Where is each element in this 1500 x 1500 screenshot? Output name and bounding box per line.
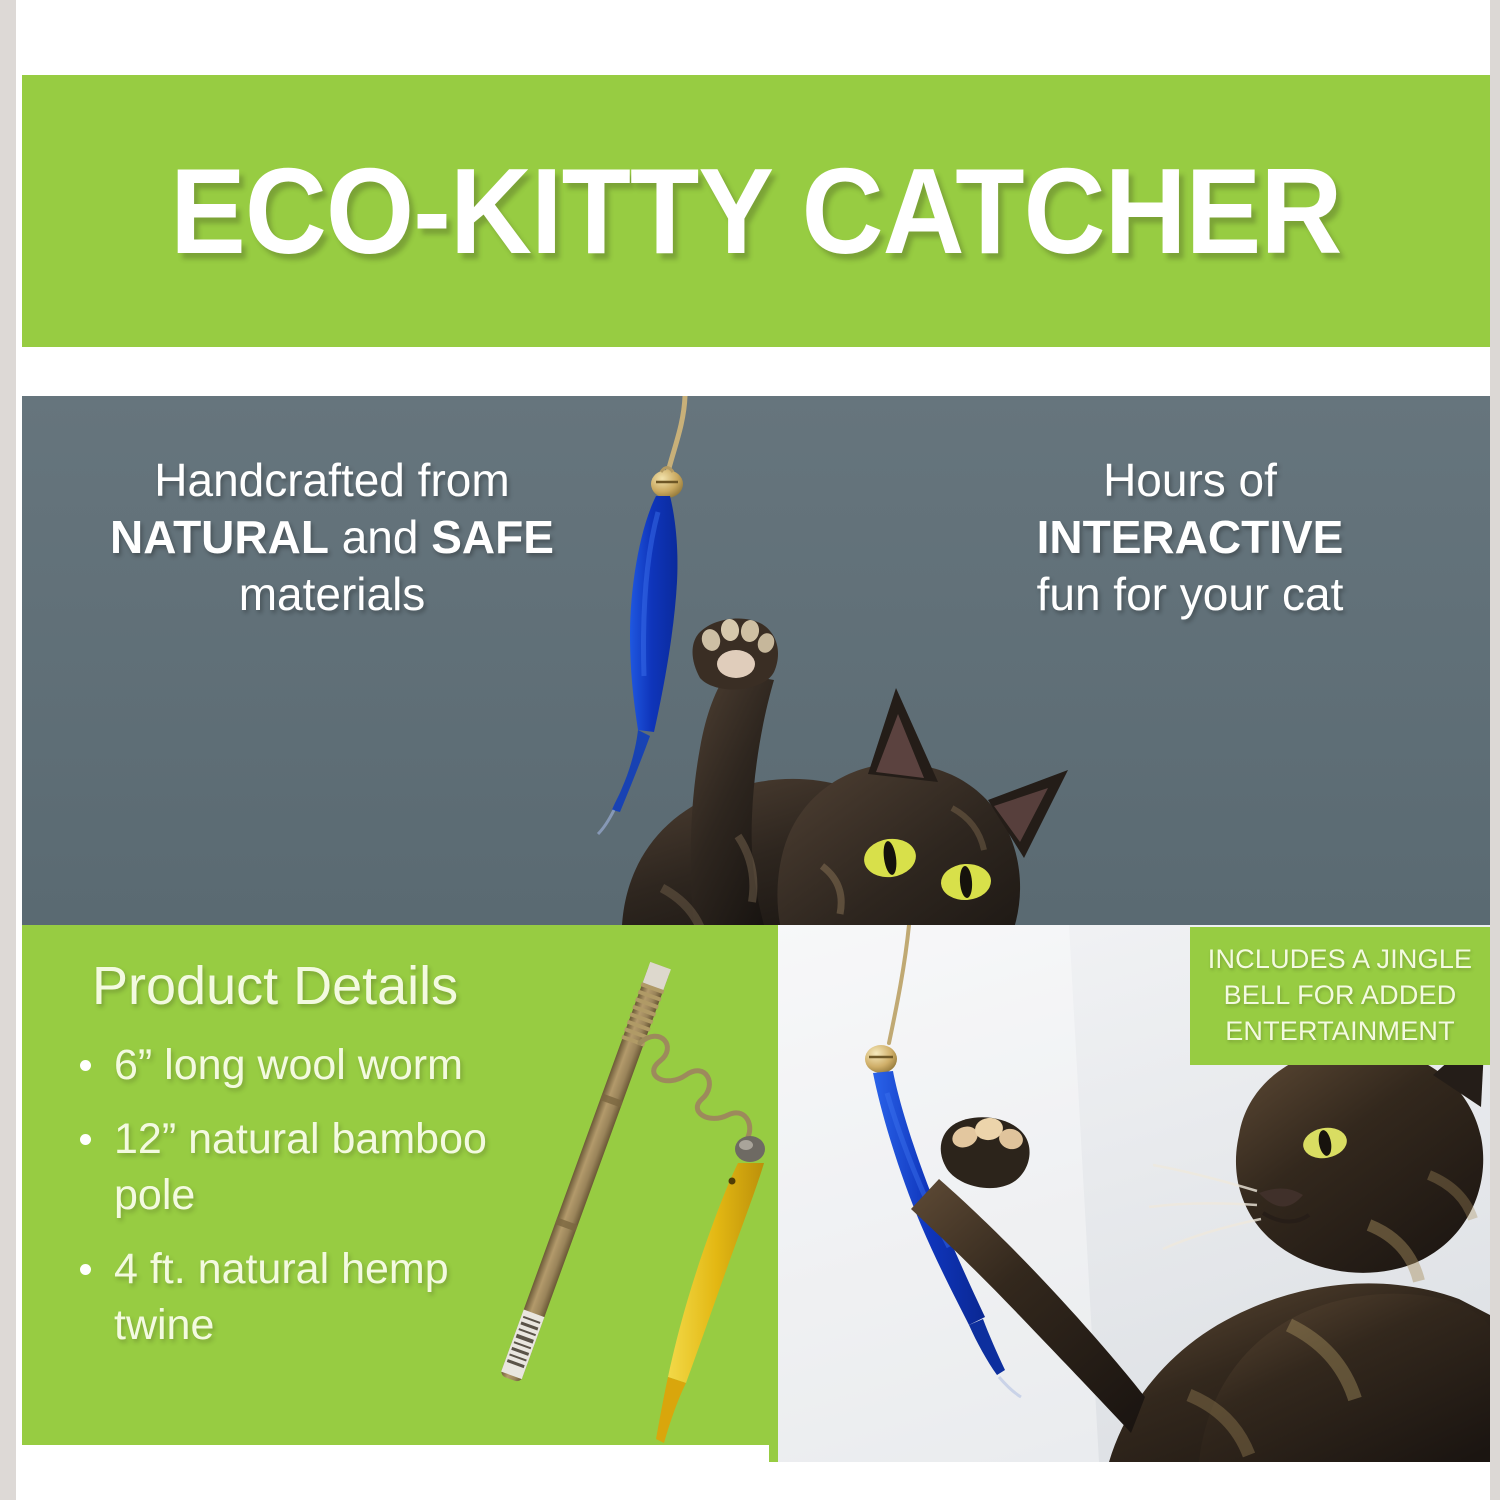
infographic-page: ECO-KITTY CATCHER xyxy=(0,0,1500,1500)
photo-green-edge xyxy=(769,925,778,1462)
list-item: 4 ft. natural hemp twine xyxy=(68,1242,558,1354)
bullet-icon xyxy=(80,1134,91,1145)
title-banner: ECO-KITTY CATCHER xyxy=(22,75,1490,347)
page-title: ECO-KITTY CATCHER xyxy=(170,150,1341,272)
bullet-icon xyxy=(80,1264,91,1275)
feature-right-bold-interactive: INTERACTIVE xyxy=(1037,511,1344,563)
infographic-canvas: ECO-KITTY CATCHER xyxy=(22,0,1490,1500)
feature-right-line1: Hours of xyxy=(910,452,1470,509)
badge-line-3: ENTERTAINMENT xyxy=(1225,1014,1455,1050)
feature-text-left: Handcrafted from NATURAL and SAFE materi… xyxy=(32,452,632,623)
feature-right-line2: INTERACTIVE xyxy=(910,509,1470,566)
feature-left-line1: Handcrafted from xyxy=(32,452,632,509)
list-item-label: 4 ft. natural hemp twine xyxy=(114,1245,449,1349)
feature-text-right: Hours of INTERACTIVE fun for your cat xyxy=(910,452,1470,623)
list-item-label: 6” long wool worm xyxy=(114,1041,463,1089)
bullet-icon xyxy=(80,1060,91,1071)
badge-line-1: INCLUDES A JINGLE xyxy=(1208,942,1473,978)
badge-line-2: BELL FOR ADDED xyxy=(1224,978,1457,1014)
feature-left-and: and xyxy=(329,511,431,563)
feature-left-bold-natural: NATURAL xyxy=(110,511,329,563)
list-item: 6” long wool worm xyxy=(68,1038,558,1094)
feature-left-line3: materials xyxy=(32,566,632,623)
product-details-list: 6” long wool worm 12” natural bamboo pol… xyxy=(68,1038,558,1371)
list-item-label: 12” natural bamboo pole xyxy=(114,1115,487,1219)
left-edge-strip xyxy=(0,0,16,1500)
jingle-bell-badge: INCLUDES A JINGLE BELL FOR ADDED ENTERTA… xyxy=(1190,927,1490,1065)
product-details-panel: Product Details 6” long wool worm 12” na… xyxy=(22,925,769,1445)
feature-right-line3: fun for your cat xyxy=(910,566,1470,623)
feature-panel: Handcrafted from NATURAL and SAFE materi… xyxy=(22,396,1490,925)
list-item: 12” natural bamboo pole xyxy=(68,1112,558,1224)
feature-left-bold-safe: SAFE xyxy=(431,511,554,563)
product-details-title: Product Details xyxy=(92,955,458,1017)
feature-left-line2: NATURAL and SAFE xyxy=(32,509,632,566)
